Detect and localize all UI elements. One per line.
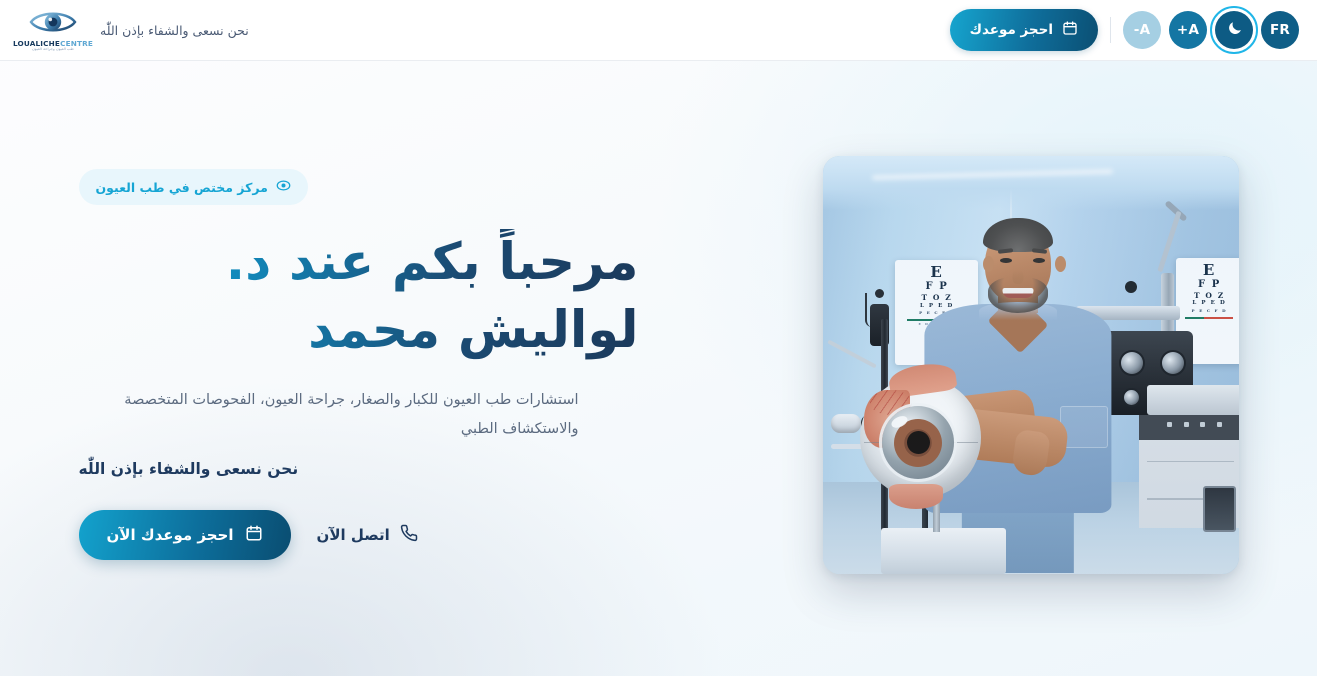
calendar-icon xyxy=(1062,20,1078,40)
photo-color-tint xyxy=(823,156,1239,574)
book-appointment-label: احجز موعدك الآن xyxy=(107,526,234,544)
eye-logo-icon xyxy=(29,9,77,39)
book-appointment-button[interactable]: احجز موعدك الآن xyxy=(79,510,291,560)
call-now-button[interactable]: اتصل الآن xyxy=(313,524,422,546)
hero-slogan: نحن نسعى والشفاء بإذن اللّٰه xyxy=(79,460,299,478)
header-book-label: احجز موعدك xyxy=(970,22,1053,38)
decrease-font-label: A- xyxy=(1134,22,1150,38)
increase-font-label: A+ xyxy=(1177,22,1199,38)
page-title: مرحباً بكم عند د. لواليش محمد xyxy=(79,229,639,364)
header-divider xyxy=(1110,17,1111,43)
site-logo[interactable]: LOUALICHECENTRE طب العيون وجراحة العيون xyxy=(20,7,86,53)
header-actions-group: احجز موعدك A- A+ xyxy=(942,9,1299,51)
accessibility-controls: A- A+ FR xyxy=(1123,11,1299,49)
call-now-label: اتصل الآن xyxy=(317,526,390,544)
hero-image-card: E F P T O Z L P E D P E C F D E D F C Z … xyxy=(823,156,1239,574)
specialty-badge: مركز مختص في طب العيون xyxy=(79,169,308,205)
eye-icon xyxy=(276,178,291,196)
phone-icon xyxy=(400,524,418,546)
site-header: احجز موعدك A- A+ xyxy=(0,0,1317,61)
hero-text-column: مركز مختص في طب العيون مرحباً بكم عند د.… xyxy=(79,169,644,560)
logo-subtitle: طب العيون وجراحة العيون xyxy=(32,48,74,52)
header-book-appointment-button[interactable]: احجز موعدك xyxy=(950,9,1098,51)
theme-toggle-button[interactable] xyxy=(1215,11,1253,49)
hero-cta-group: احجز موعدك الآن اتصل الآن xyxy=(79,510,422,560)
language-toggle-button[interactable]: FR xyxy=(1261,11,1299,49)
decrease-font-button[interactable]: A- xyxy=(1123,11,1161,49)
hero-section: مركز مختص في طب العيون مرحباً بكم عند د.… xyxy=(0,61,1317,676)
badge-label: مركز مختص في طب العيون xyxy=(96,180,268,195)
language-toggle-label: FR xyxy=(1270,22,1290,38)
logo-wordmark: LOUALICHECENTRE xyxy=(13,40,93,47)
clinic-photo: E F P T O Z L P E D P E C F D E D F C Z … xyxy=(823,156,1239,574)
calendar-icon xyxy=(245,524,263,546)
increase-font-button[interactable]: A+ xyxy=(1169,11,1207,49)
hero-description: استشارات طب العيون للكبار والصغار، جراحة… xyxy=(79,386,579,444)
moon-icon xyxy=(1226,20,1243,41)
brand-tagline: نحن نسعى والشفاء بإذن اللّٰه xyxy=(100,23,249,38)
header-brand-group: نحن نسعى والشفاء بإذن اللّٰه LOUALICHECE… xyxy=(20,7,249,53)
hero-container: مركز مختص في طب العيون مرحباً بكم عند د.… xyxy=(79,156,1239,574)
